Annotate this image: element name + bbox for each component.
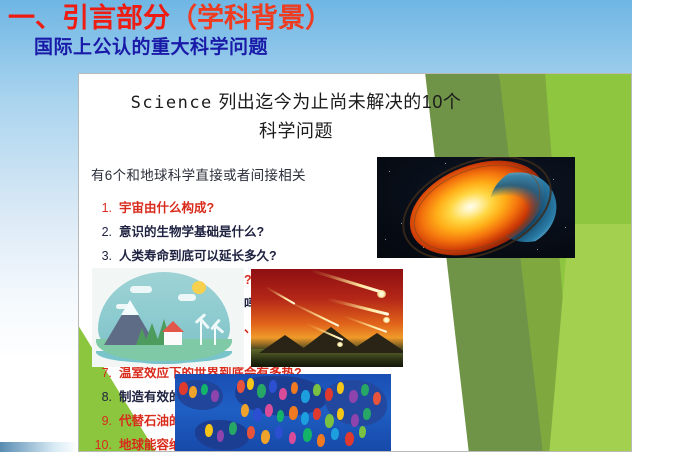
list-item-number: 2. xyxy=(93,224,119,241)
list-item-number: 8. xyxy=(93,389,119,406)
slide-subheading: 有6个和地球科学直接或者间接相关 xyxy=(91,164,306,184)
slide-heading: Science 列出迄今为止尚未解决的10个 科学问题 xyxy=(101,88,491,145)
list-item-text: 人类寿命到底可以延长多久? xyxy=(119,248,383,265)
list-item-text: 宇宙由什么构成? xyxy=(119,200,383,217)
page-title: 一、引言部分（学科背景） xyxy=(8,2,332,34)
list-item-number: 9. xyxy=(93,413,119,430)
list-item: 3. 人类寿命到底可以延长多久? xyxy=(93,248,383,265)
decor-green-light-polygon xyxy=(549,224,632,452)
page-title-parenthetical: （学科背景） xyxy=(170,3,332,33)
list-item-text: 意识的生物学基础是什么? xyxy=(119,224,383,241)
page-subtitle: 国际上公认的重大科学问题 xyxy=(34,36,268,60)
list-item: 1. 宇宙由什么构成? xyxy=(93,200,383,217)
slide-heading-line2: 科学问题 xyxy=(259,121,333,141)
list-item-number: 3. xyxy=(93,248,119,265)
right-white-gutter xyxy=(632,0,699,452)
world-population-crowd-photo xyxy=(175,374,391,452)
meteor-shower-photo xyxy=(251,269,403,367)
bottom-left-accent xyxy=(0,442,78,452)
slide-canvas: Science 列出迄今为止尚未解决的10个 科学问题 有6个和地球科学直接或者… xyxy=(78,73,632,452)
earth-core-cutaway-photo xyxy=(377,157,575,258)
eco-dome-greenhouse-photo xyxy=(92,268,244,367)
slide-header: 一、引言部分（学科背景） 国际上公认的重大科学问题 xyxy=(0,0,699,72)
list-item-number: 1. xyxy=(93,200,119,217)
list-item: 2. 意识的生物学基础是什么? xyxy=(93,224,383,241)
list-item-number: 10. xyxy=(93,437,119,452)
slide-heading-science-word: Science xyxy=(131,93,213,113)
list-item-number: 7. xyxy=(93,365,119,382)
page-title-main: 一、引言部分 xyxy=(8,3,170,33)
slide-heading-line1: 列出迄今为止尚未解决的10个 xyxy=(218,92,461,112)
